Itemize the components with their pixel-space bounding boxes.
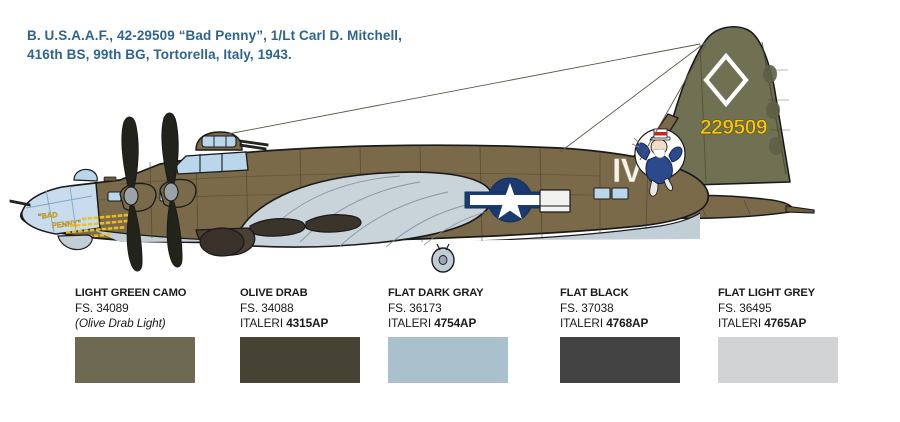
paint-code: 4754AP: [434, 316, 476, 330]
paint-code: 4768AP: [606, 316, 648, 330]
swatch-color-chip: [240, 337, 360, 383]
paint-code: 4765AP: [764, 316, 806, 330]
swatch-brand-code: ITALERI 4768AP: [560, 316, 680, 331]
paint-color-legend: LIGHT GREEN CAMO FS. 34089 (Olive Drab L…: [0, 286, 900, 406]
swatch-brand-code: ITALERI 4765AP: [718, 316, 838, 331]
brand-label: ITALERI: [240, 316, 286, 330]
brand-label: ITALERI: [560, 316, 606, 330]
swatch-name: FLAT LIGHT GREY: [718, 286, 838, 301]
swatch-color-chip: [388, 337, 508, 383]
swatch-alt-name: (Olive Drab Light): [75, 316, 195, 331]
antenna-wires: [228, 42, 706, 160]
brand-label: ITALERI: [388, 316, 434, 330]
swatch-light-green-camo: LIGHT GREEN CAMO FS. 34089 (Olive Drab L…: [75, 286, 195, 383]
swatch-name: FLAT BLACK: [560, 286, 680, 301]
aircraft-profile-illustration: 229509: [0, 14, 900, 276]
tail-wheel: [432, 244, 454, 272]
swatch-brand-code: ITALERI 4315AP: [240, 316, 360, 331]
swatch-name: OLIVE DRAB: [240, 286, 360, 301]
swatch-flat-black: FLAT BLACK FS. 37038 ITALERI 4768AP: [560, 286, 680, 383]
brand-label: ITALERI: [718, 316, 764, 330]
swatch-brand-code: ITALERI 4754AP: [388, 316, 508, 331]
swatch-flat-light-grey: FLAT LIGHT GREY FS. 36495 ITALERI 4765AP: [718, 286, 838, 383]
swatch-fs-code: FS. 37038: [560, 301, 680, 316]
swatch-fs-code: FS. 36495: [718, 301, 838, 316]
tail-serial-number: 229509: [700, 116, 767, 139]
swatch-flat-dark-gray: FLAT DARK GRAY FS. 36173 ITALERI 4754AP: [388, 286, 508, 383]
main-wheel: [196, 228, 255, 256]
paint-code: 4315AP: [286, 316, 328, 330]
swatch-fs-code: FS. 34088: [240, 301, 360, 316]
swatch-color-chip: [718, 337, 838, 383]
swatch-name: FLAT DARK GRAY: [388, 286, 508, 301]
swatch-color-chip: [560, 337, 680, 383]
swatch-fs-code: FS. 34089: [75, 301, 195, 316]
swatch-name: LIGHT GREEN CAMO: [75, 286, 195, 301]
swatch-olive-drab: OLIVE DRAB FS. 34088 ITALERI 4315AP: [240, 286, 360, 383]
aircraft-body: 229509: [10, 27, 814, 272]
swatch-fs-code: FS. 36173: [388, 301, 508, 316]
swatch-color-chip: [75, 337, 195, 383]
